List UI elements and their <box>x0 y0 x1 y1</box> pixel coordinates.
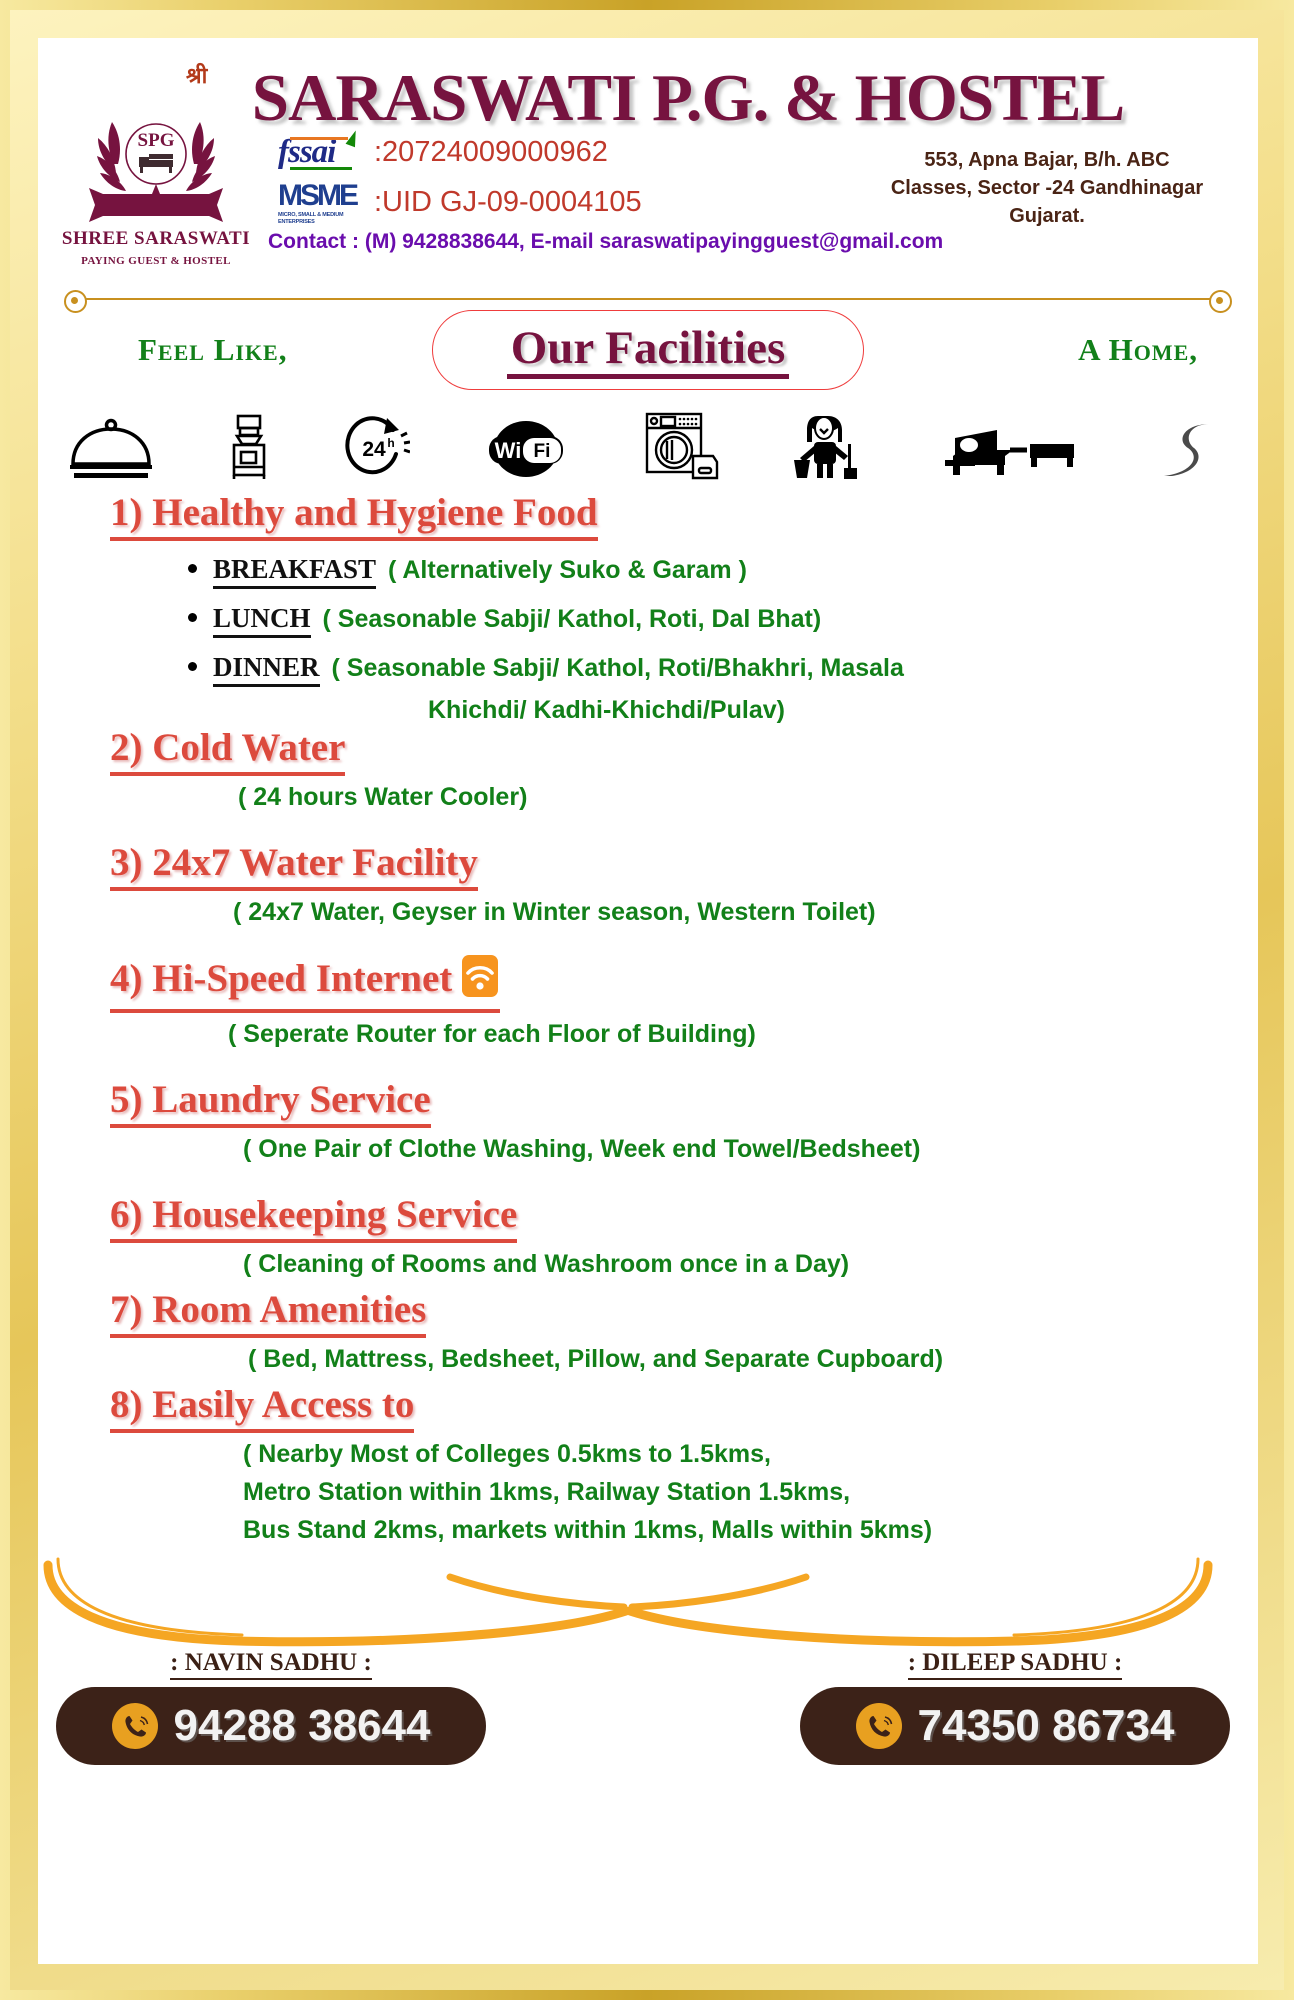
phone-pill-navin[interactable]: 94288 38644 <box>56 1687 486 1765</box>
poster-gold-frame: श्री SARASWATI P.G. & HOSTEL <box>10 10 1284 1990</box>
facility-desc-4: ( Seperate Router for each Floor of Buil… <box>228 1017 1258 1051</box>
facility-item-food: 1) Healthy and Hygiene Food BREAKFAST ( … <box>38 490 1258 725</box>
facility-item-housekeeping: 6) Housekeeping Service ( Cleaning of Ro… <box>38 1192 1258 1281</box>
facility-title-2: 2) Cold Water <box>110 725 345 776</box>
water-dispenser-icon <box>225 414 273 480</box>
cert-row-msme: MSME MICRO, SMALL & MEDIUM ENTERPRISES :… <box>278 180 698 224</box>
footer-contacts: : NAVIN SADHU : 94288 38644 : DILEEP SAD… <box>38 1649 1258 1829</box>
svg-text:SPG: SPG <box>138 130 175 151</box>
poster-root: श्री SARASWATI P.G. & HOSTEL <box>0 0 1294 2000</box>
facility-desc-8-line3: Bus Stand 2kms, markets within 1kms, Mal… <box>243 1513 1258 1547</box>
meal-desc-dinner: ( Seasonable Sabji/ Kathol, Roti/Bhakhri… <box>332 654 904 683</box>
svg-text:Fi: Fi <box>534 441 551 462</box>
facility-desc-8-line2: Metro Station within 1kms, Railway Stati… <box>243 1475 1258 1509</box>
washing-machine-icon <box>643 412 721 480</box>
tagline-right: A Home, <box>1078 332 1198 368</box>
meal-label-dinner: DINNER <box>213 652 320 687</box>
contact-name-dileep: : DILEEP SADHU : <box>908 1649 1123 1680</box>
contact-card-navin: : NAVIN SADHU : 94288 38644 <box>56 1649 486 1765</box>
tagline-left: Feel Like, <box>138 332 287 368</box>
page-title: SARASWATI P.G. & HOSTEL <box>188 60 1188 137</box>
poster-sheet: श्री SARASWATI P.G. & HOSTEL <box>38 38 1258 1964</box>
svg-text:24: 24 <box>363 438 387 461</box>
wifi-icon: Wi Fi <box>481 418 571 480</box>
bullet-dot-icon <box>188 613 197 622</box>
decorative-divider <box>60 288 1236 310</box>
facility-desc-2: ( 24 hours Water Cooler) <box>238 780 1258 814</box>
fssai-license-number: :20724009000962 <box>374 136 608 169</box>
meal-list: BREAKFAST ( Alternatively Suko & Garam )… <box>38 547 1258 694</box>
facility-desc-3: ( 24x7 Water, Geyser in Winter season, W… <box>233 895 1258 929</box>
contact-email-line: Contact : (M) 9428838644, E-mail saraswa… <box>268 230 1168 254</box>
meal-label-breakfast: BREAKFAST <box>213 554 376 589</box>
meal-desc-breakfast: ( Alternatively Suko & Garam ) <box>388 556 747 585</box>
facility-desc-7: ( Bed, Mattress, Bedsheet, Pillow, and S… <box>248 1342 1258 1376</box>
meal-row-breakfast: BREAKFAST ( Alternatively Suko & Garam ) <box>188 547 1258 596</box>
phone-icon <box>112 1703 158 1749</box>
facility-item-laundry: 5) Laundry Service ( One Pair of Clothe … <box>38 1077 1258 1166</box>
decorative-swoosh <box>38 1553 1258 1649</box>
phone-number-navin: 94288 38644 <box>174 1701 431 1751</box>
facility-icon-strip: 24 h Wi Fi <box>38 390 1258 486</box>
logo-brand-name: SHREE SARASWATI <box>56 228 256 250</box>
wifi-signal-icon <box>460 955 500 1008</box>
logo-badge-icon: SPG <box>81 106 231 226</box>
facility-title-7: 7) Room Amenities <box>110 1287 426 1338</box>
24h-clock-icon: 24 h <box>344 416 410 480</box>
meal-desc-lunch: ( Seasonable Sabji/ Kathol, Roti, Dal Bh… <box>323 605 822 634</box>
facilities-banner: Feel Like, Our Facilities A Home, <box>38 310 1258 390</box>
facilities-title-pill: Our Facilities <box>432 310 864 390</box>
facility-desc-8-line1: ( Nearby Most of Colleges 0.5kms to 1.5k… <box>243 1437 1258 1471</box>
contact-card-dileep: : DILEEP SADHU : 74350 86734 <box>800 1649 1230 1765</box>
certifications: fssai :20724009000962 MSME MICRO, SMALL … <box>278 130 698 230</box>
svg-text:h: h <box>388 436 395 450</box>
road-icon <box>1154 422 1228 480</box>
phone-pill-dileep[interactable]: 74350 86734 <box>800 1687 1230 1765</box>
facility-title-8: 8) Easily Access to <box>110 1382 414 1433</box>
facility-title-1: 1) Healthy and Hygiene Food <box>110 490 598 541</box>
contact-name-navin: : NAVIN SADHU : <box>170 1649 372 1680</box>
meal-row-dinner: DINNER ( Seasonable Sabji/ Kathol, Roti/… <box>188 645 1258 694</box>
brand-logo: SPG SHREE SARASWATI PAYING GUEST & HOSTE… <box>56 106 256 267</box>
facility-item-room-amenities: 7) Room Amenities ( Bed, Mattress, Bedsh… <box>38 1287 1258 1376</box>
facility-item-cold-water: 2) Cold Water ( 24 hours Water Cooler) <box>38 725 1258 814</box>
svg-text:Wi: Wi <box>495 438 522 463</box>
facility-item-access: 8) Easily Access to ( Nearby Most of Col… <box>38 1382 1258 1547</box>
facility-item-water-247: 3) 24x7 Water Facility ( 24x7 Water, Gey… <box>38 840 1258 929</box>
phone-number-dileep: 74350 86734 <box>918 1701 1175 1751</box>
logo-brand-sub: PAYING GUEST & HOSTEL <box>56 255 256 267</box>
facility-title-4-text: 4) Hi-Speed Internet <box>110 957 452 1000</box>
msme-logo-text: MSME <box>278 180 364 212</box>
facility-title-3: 3) 24x7 Water Facility <box>110 840 478 891</box>
meal-desc-dinner-cont: Khichdi/ Kadhi-Khichdi/Pulav) <box>428 696 1258 725</box>
facility-desc-6: ( Cleaning of Rooms and Washroom once in… <box>243 1247 1258 1281</box>
fssai-logo-icon: fssai <box>278 131 364 173</box>
address-text: 553, Apna Bajar, B/h. ABC Classes, Secto… <box>882 146 1212 230</box>
facility-desc-5: ( One Pair of Clothe Washing, Week end T… <box>243 1132 1258 1166</box>
facilities-list: 1) Healthy and Hygiene Food BREAKFAST ( … <box>38 486 1258 1547</box>
facilities-title: Our Facilities <box>507 322 790 379</box>
msme-uid-number: :UID GJ-09-0004105 <box>374 186 642 219</box>
msme-logo-icon: MSME MICRO, SMALL & MEDIUM ENTERPRISES <box>278 180 364 224</box>
cert-row-fssai: fssai :20724009000962 <box>278 130 698 174</box>
phone-icon <box>856 1703 902 1749</box>
facility-item-internet: 4) Hi-Speed Internet ( Seperate Router f… <box>38 955 1258 1051</box>
meal-label-lunch: LUNCH <box>213 603 311 638</box>
bullet-dot-icon <box>188 662 197 671</box>
facility-title-6: 6) Housekeeping Service <box>110 1192 517 1243</box>
beds-icon <box>935 420 1083 480</box>
food-cloche-icon <box>68 418 154 480</box>
msme-logo-caption: MICRO, SMALL & MEDIUM ENTERPRISES <box>278 212 364 226</box>
poster-header: श्री SARASWATI P.G. & HOSTEL <box>38 38 1258 288</box>
facility-title-5: 5) Laundry Service <box>110 1077 431 1128</box>
bullet-dot-icon <box>188 564 197 573</box>
facility-title-4: 4) Hi-Speed Internet <box>110 955 500 1013</box>
meal-row-lunch: LUNCH ( Seasonable Sabji/ Kathol, Roti, … <box>188 596 1258 645</box>
housekeeping-icon <box>792 412 864 480</box>
